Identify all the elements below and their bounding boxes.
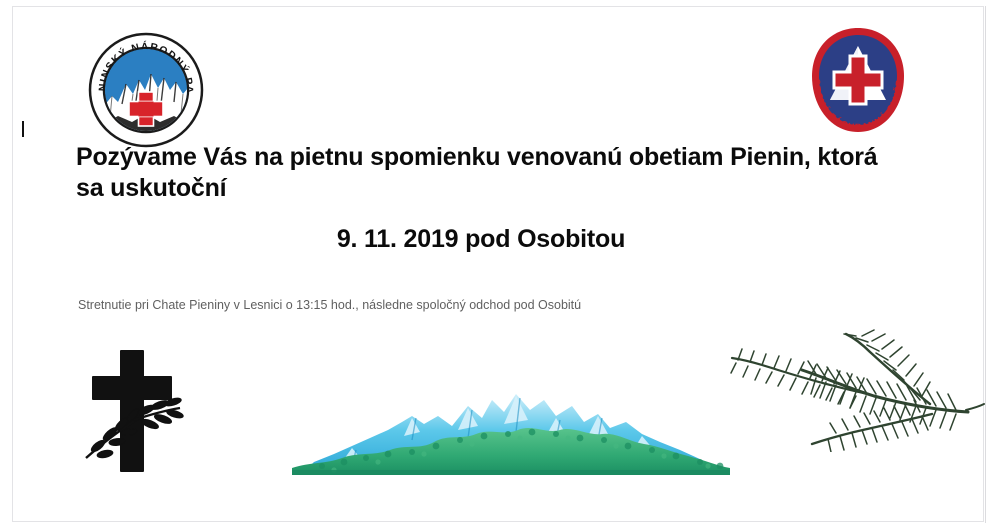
pieniny-mountain-photo: [292, 382, 730, 475]
pieninsky-narodny-park-logo: PIENINSKÝ NÁRODNÝ PARK HORSKÁ SLUŽBA: [88, 32, 204, 148]
spruce-branch-icon: [716, 326, 988, 452]
memorial-cross-icon: [72, 342, 204, 478]
invitation-headline: Pozývame Vás na pietnu spomienku venovan…: [76, 142, 886, 204]
text-caret-artifact: [22, 121, 24, 137]
horska-zachranna-sluzba-logo: HORSKÁ ZÁCHRANNÁ SLUŽBA: [806, 26, 910, 136]
memorial-invitation-page: PIENINSKÝ NÁRODNÝ PARK HORSKÁ SLUŽBA: [0, 0, 1000, 528]
event-date-line: 9. 11. 2019 pod Osobitou: [76, 224, 886, 255]
meeting-details-line: Stretnutie pri Chate Pieniny v Lesnici o…: [78, 297, 778, 313]
